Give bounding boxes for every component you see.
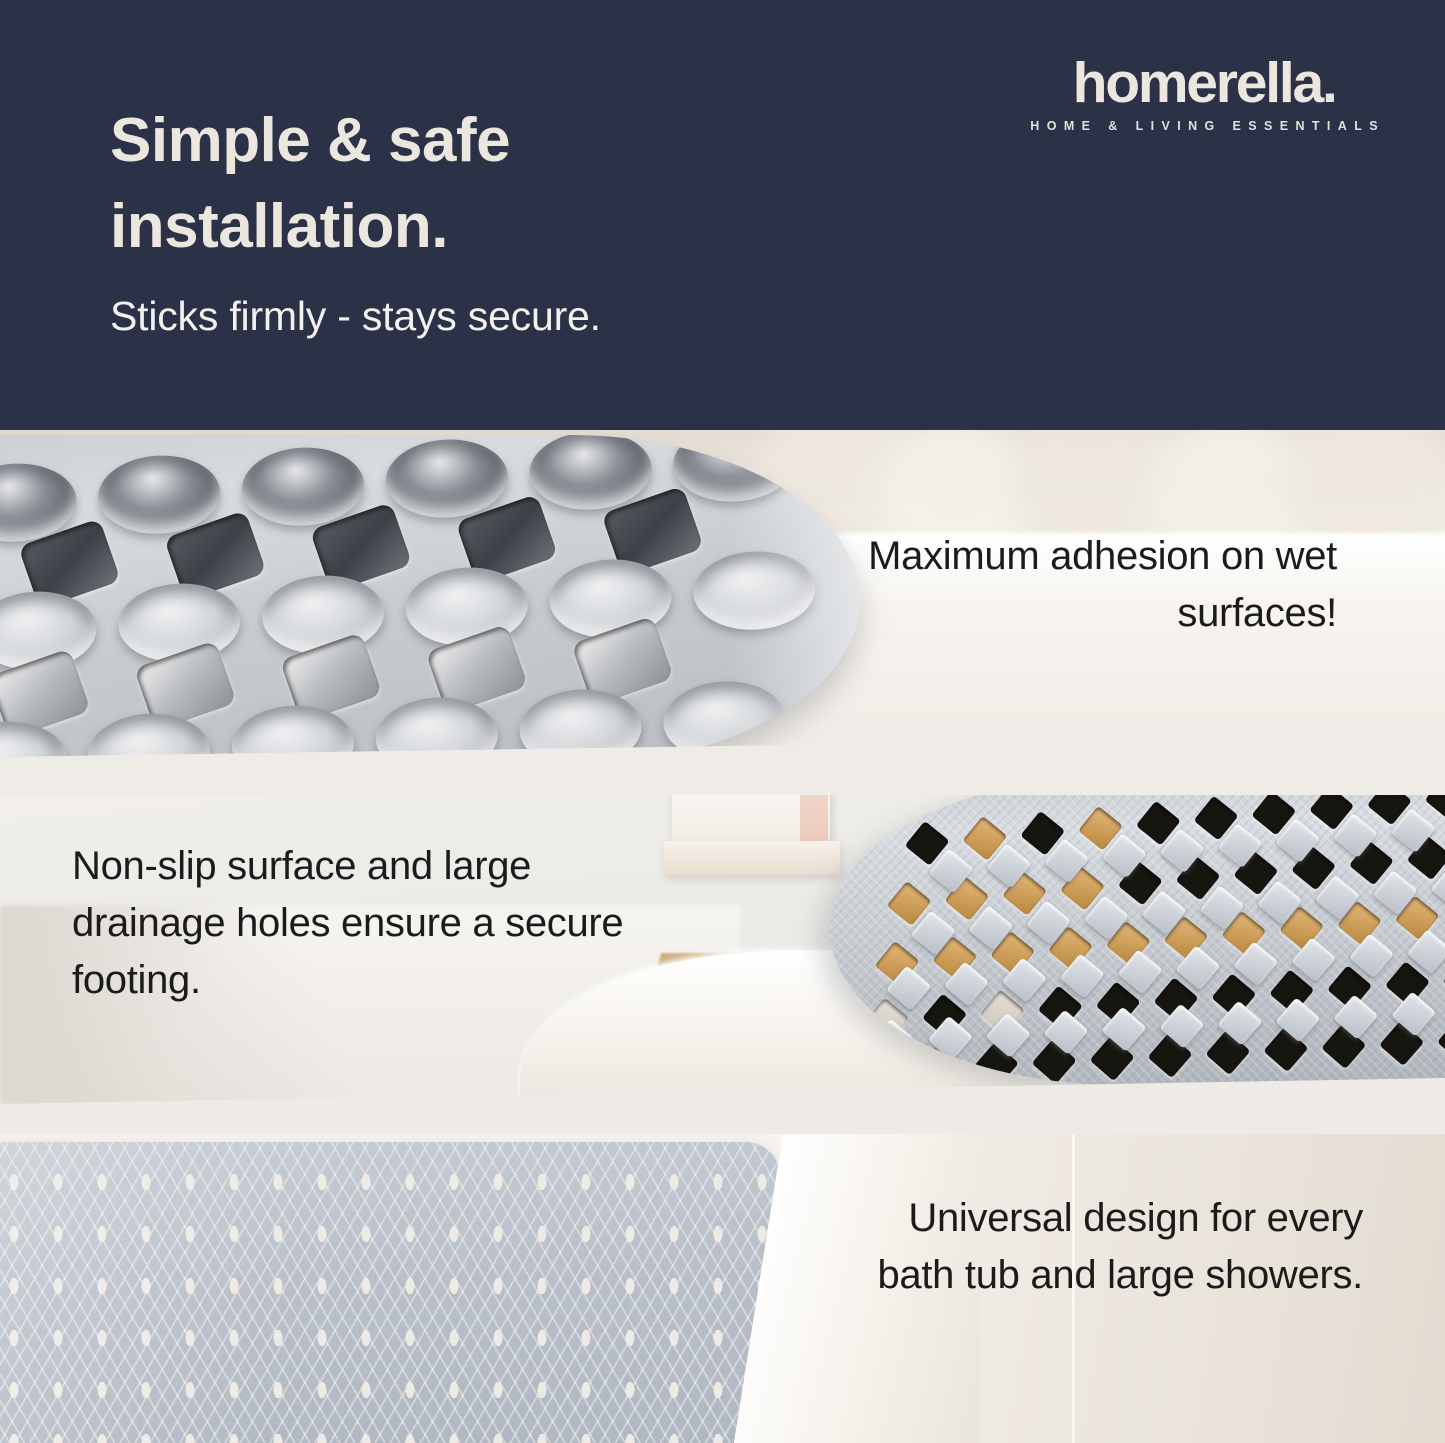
bath-mat-flat-image (0, 1142, 780, 1443)
headline-line-1: Simple & safe (110, 106, 510, 175)
logo-tagline: HOME & LIVING ESSENTIALS (1023, 119, 1385, 133)
header-banner: Simple & safe installation. Sticks firml… (0, 0, 1445, 430)
caption-adhesion: Maximum adhesion on wet surfaces! (797, 528, 1337, 642)
bath-mat-underside-image (0, 435, 860, 765)
bath-mat-rolled-image (830, 775, 1445, 1085)
brand-logo: homerella. HOME & LIVING ESSENTIALS (1023, 56, 1385, 133)
page-subtitle: Sticks firmly - stays secure. (110, 292, 910, 341)
logo-wordmark: homerella. (1023, 56, 1385, 112)
product-infographic: Maximum adhesion on wet surfaces! Non-sl… (0, 0, 1445, 1443)
caption-universal: Universal design for every bath tub and … (833, 1190, 1363, 1304)
page-title: Simple & safe installation. (110, 98, 870, 269)
mat-gloss-highlight (0, 1142, 780, 1443)
headline-line-2: installation. (110, 184, 870, 270)
caption-drainage: Non-slip surface and large drainage hole… (72, 838, 692, 1008)
mat-square-hole-grid (830, 775, 1445, 1085)
